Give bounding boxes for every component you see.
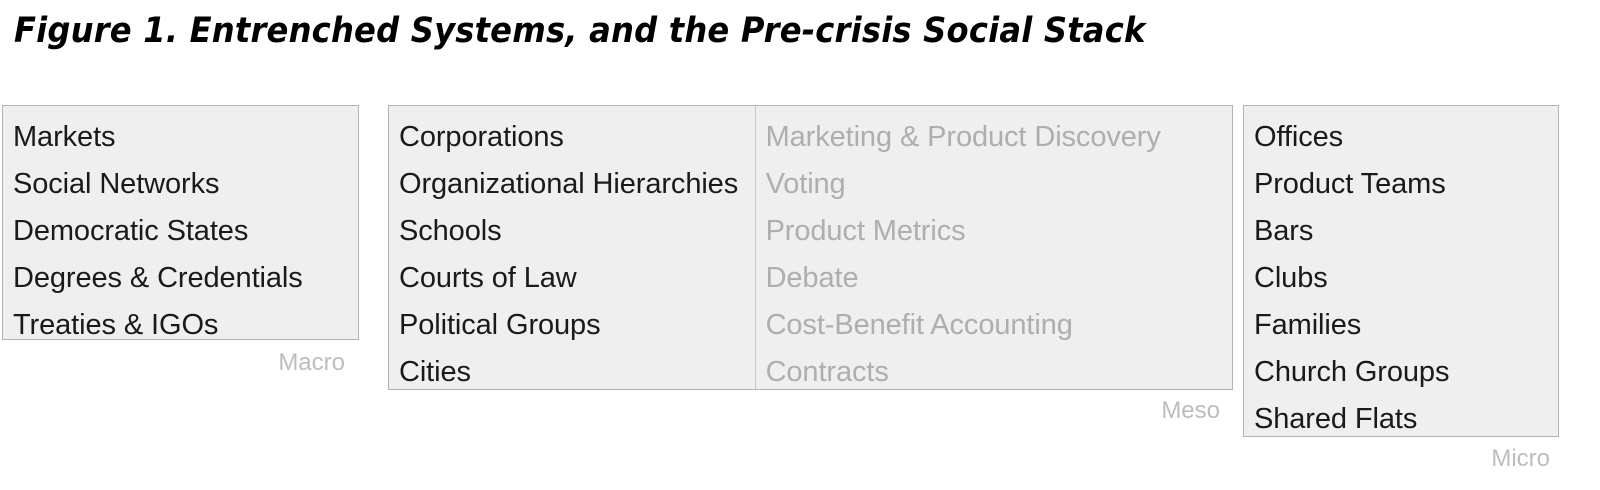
list-item: Contracts <box>766 349 1222 396</box>
list-item: Degrees & Credentials <box>13 255 303 302</box>
list-item: Bars <box>1254 208 1449 255</box>
list-item: Markets <box>13 114 303 161</box>
list-item: Clubs <box>1254 255 1449 302</box>
list-item: Corporations <box>399 114 745 161</box>
list-item: Political Groups <box>399 302 745 349</box>
tier-box-macro: Markets Social Networks Democratic State… <box>2 105 359 340</box>
list-item: Product Metrics <box>766 208 1222 255</box>
tier-box-micro: Offices Product Teams Bars Clubs Familie… <box>1243 105 1559 437</box>
tier-box-meso: Corporations Organizational Hierarchies … <box>388 105 1233 390</box>
tier-caption-micro: Micro <box>1390 444 1550 474</box>
list-item: Offices <box>1254 114 1449 161</box>
list-item: Shared Flats <box>1254 396 1449 443</box>
tier-column-macro-entrenched: Markets Social Networks Democratic State… <box>3 106 313 339</box>
tier-caption-meso: Meso <box>1060 396 1220 426</box>
tier-column-micro-entrenched: Offices Product Teams Bars Clubs Familie… <box>1244 106 1459 436</box>
list-item: Courts of Law <box>399 255 745 302</box>
list-item: Church Groups <box>1254 349 1449 396</box>
tier-caption-macro: Macro <box>185 348 345 378</box>
list-item: Product Teams <box>1254 161 1449 208</box>
list-item: Treaties & IGOs <box>13 302 303 349</box>
list-item: Cities <box>399 349 745 396</box>
tier-column-meso-entrenched: Corporations Organizational Hierarchies … <box>389 106 755 389</box>
list-item: Schools <box>399 208 745 255</box>
tier-column-meso-practices: Marketing & Product Discovery Voting Pro… <box>755 106 1232 389</box>
list-item: Voting <box>766 161 1222 208</box>
list-item: Cost-Benefit Accounting <box>766 302 1222 349</box>
list-item: Families <box>1254 302 1449 349</box>
page-title: Figure 1. Entrenched Systems, and the Pr… <box>14 8 1146 54</box>
list-item: Social Networks <box>13 161 303 208</box>
list-item: Organizational Hierarchies <box>399 161 745 208</box>
list-item: Debate <box>766 255 1222 302</box>
list-item: Democratic States <box>13 208 303 255</box>
list-item: Marketing & Product Discovery <box>766 114 1222 161</box>
